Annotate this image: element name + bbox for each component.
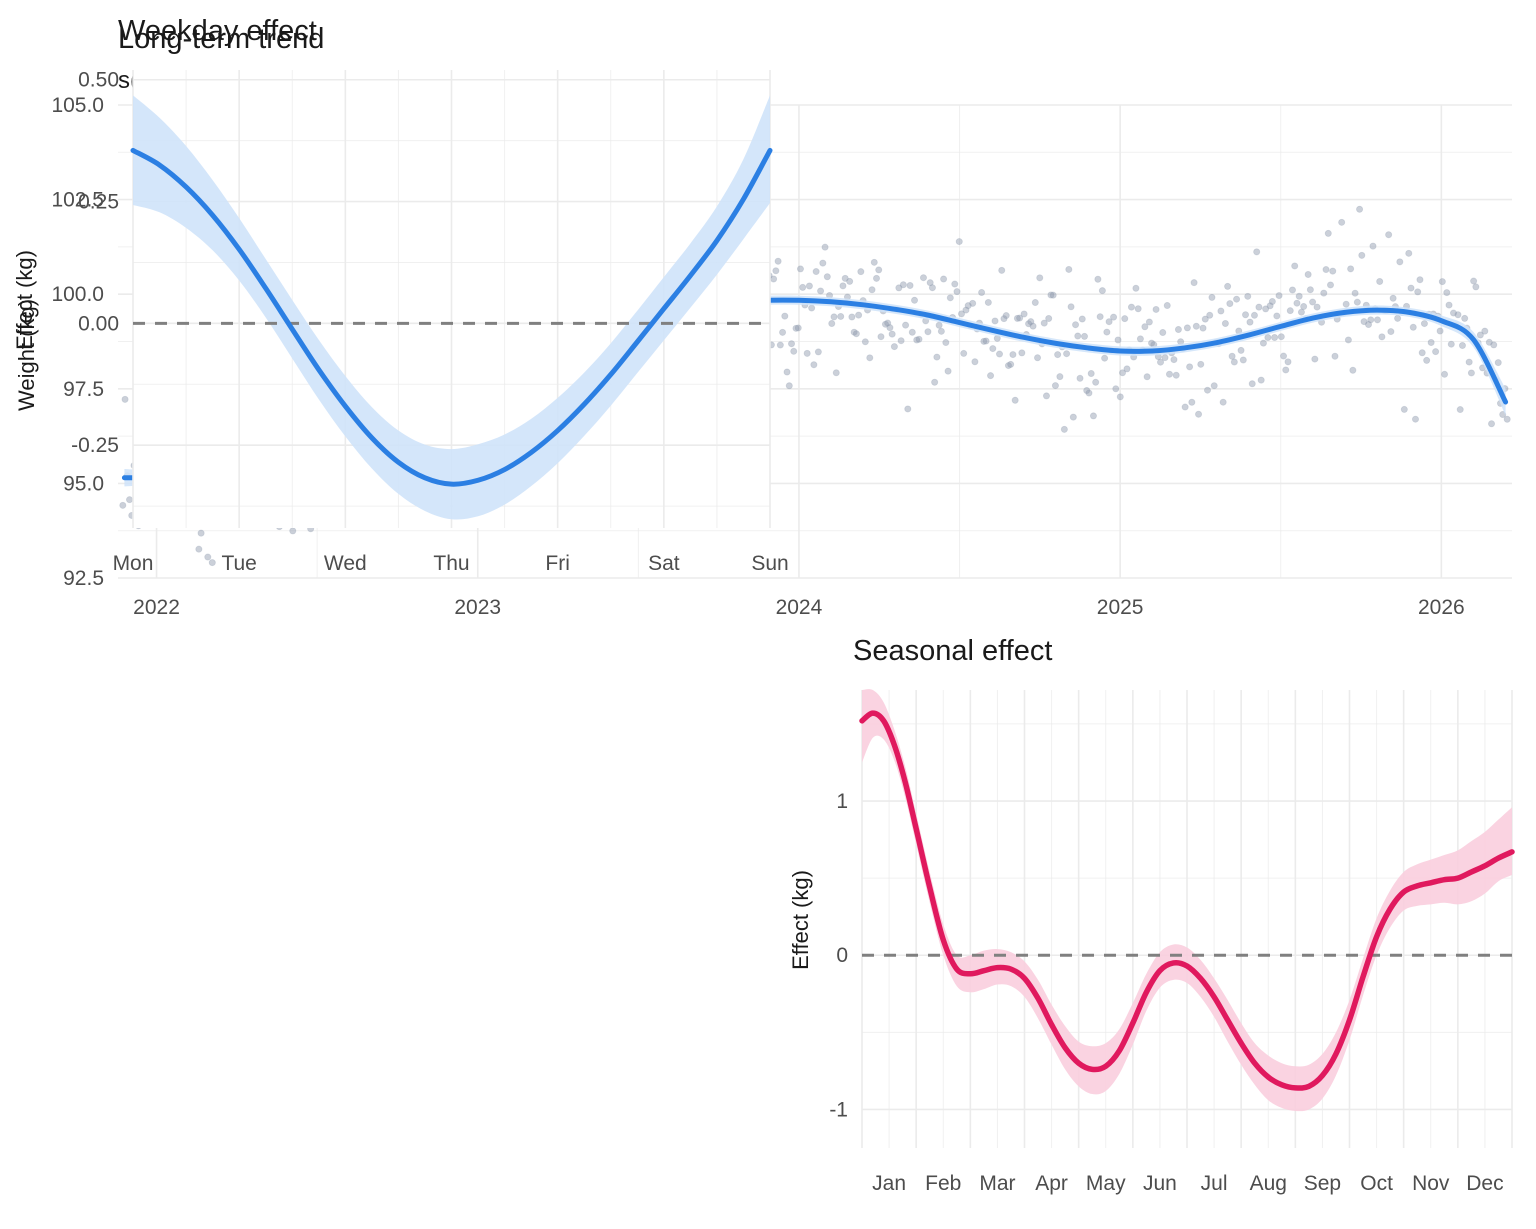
scatter-point — [985, 299, 991, 305]
scatter-point — [999, 267, 1005, 273]
scatter-point — [970, 300, 976, 306]
scatter-point — [831, 314, 837, 320]
scatter-point — [1110, 314, 1116, 320]
scatter-point — [934, 354, 940, 360]
scatter-point — [1117, 394, 1123, 400]
scatter-point — [1227, 300, 1233, 306]
scatter-point — [1305, 271, 1311, 277]
scatter-point — [1137, 336, 1143, 342]
scatter-point — [1037, 275, 1043, 281]
scatter-point — [1032, 299, 1038, 305]
scatter-point — [1504, 416, 1510, 422]
scatter-point — [1471, 278, 1477, 284]
scatter-point — [1173, 372, 1179, 378]
scatter-point — [1294, 300, 1300, 306]
scatter-point — [1269, 298, 1275, 304]
scatter-point — [1491, 342, 1497, 348]
scatter-point — [902, 322, 908, 328]
seasonal-x-tick-label: Feb — [925, 1172, 961, 1195]
scatter-point — [945, 368, 951, 374]
scatter-point — [1034, 355, 1040, 361]
weekday-title: Weekday effect — [118, 15, 317, 47]
scatter-point — [824, 274, 830, 280]
scatter-point — [936, 322, 942, 328]
scatter-point — [1439, 279, 1445, 285]
scatter-point — [1249, 381, 1255, 387]
scatter-point — [809, 305, 815, 311]
weekday-x-tick-label: Sun — [751, 552, 788, 575]
weekday-y-tick-label: 0.50 — [78, 69, 119, 92]
scatter-point — [920, 275, 926, 281]
scatter-point — [1370, 243, 1376, 249]
scatter-point — [1323, 266, 1329, 272]
scatter-point — [1204, 387, 1210, 393]
scatter-point — [1193, 323, 1199, 329]
scatter-point — [817, 288, 823, 294]
scatter-point — [878, 334, 884, 340]
scatter-point — [1314, 304, 1320, 310]
scatter-point — [947, 295, 953, 301]
scatter-point — [1081, 333, 1087, 339]
scatter-point — [1352, 290, 1358, 296]
scatter-point — [907, 282, 913, 288]
scatter-point — [1348, 266, 1354, 272]
scatter-point — [1175, 326, 1181, 332]
scatter-point — [1079, 316, 1085, 322]
scatter-point — [1325, 230, 1331, 236]
scatter-point — [822, 244, 828, 250]
scatter-point — [1287, 308, 1293, 314]
seasonal-x-tick-label: Dec — [1466, 1172, 1503, 1195]
scatter-point — [1195, 411, 1201, 417]
scatter-point — [858, 269, 864, 275]
scatter-point — [1187, 364, 1193, 370]
scatter-point — [987, 373, 993, 379]
scatter-point — [905, 406, 911, 412]
scatter-point — [1428, 339, 1434, 345]
scatter-point — [1207, 312, 1213, 318]
scatter-point — [804, 350, 810, 356]
scatter-point — [996, 351, 1002, 357]
weekday-effect-chart: Weekday effect -0.250.000.250.50MonTueWe… — [0, 0, 800, 609]
scatter-point — [990, 345, 996, 351]
scatter-point — [847, 278, 853, 284]
seasonal-effect-chart: Seasonal effect -101JanFebMarAprMayJunJu… — [780, 620, 1536, 1229]
scatter-point — [1473, 284, 1479, 290]
scatter-point — [983, 338, 989, 344]
scatter-point — [1225, 283, 1231, 289]
seasonal-x-tick-label: Mar — [979, 1172, 1015, 1195]
weekday-x-tick-label: Mon — [113, 552, 154, 575]
scatter-point — [1356, 206, 1362, 212]
scatter-point — [972, 359, 978, 365]
scatter-point — [889, 331, 895, 337]
scatter-point — [1280, 353, 1286, 359]
seasonal-title: Seasonal effect — [853, 635, 1052, 667]
scatter-point — [867, 355, 873, 361]
weekday-plot-area: -0.250.000.250.50MonTueWedThuFriSatSun — [71, 69, 789, 575]
scatter-point — [1377, 278, 1383, 284]
scatter-point — [811, 362, 817, 368]
scatter-point — [1345, 337, 1351, 343]
scatter-point — [1008, 361, 1014, 367]
weekday-x-tick-label: Thu — [433, 552, 469, 575]
seasonal-x-tick-label: Jan — [872, 1172, 906, 1195]
scatter-point — [1406, 250, 1412, 256]
scatter-point — [800, 284, 806, 290]
scatter-point — [1265, 334, 1271, 340]
scatter-point — [952, 281, 958, 287]
scatter-point — [956, 238, 962, 244]
seasonal-y-tick-label: 0 — [836, 944, 848, 967]
scatter-point — [838, 313, 844, 319]
scatter-point — [1064, 351, 1070, 357]
scatter-point — [1457, 406, 1463, 412]
scatter-point — [1099, 288, 1105, 294]
scatter-point — [1260, 340, 1266, 346]
scatter-point — [862, 339, 868, 345]
scatter-point — [1276, 292, 1282, 298]
scatter-point — [1209, 294, 1215, 300]
seasonal-x-tick-label: Oct — [1360, 1172, 1393, 1195]
scatter-point — [1220, 399, 1226, 405]
seasonal-y-tick-label: 1 — [836, 790, 848, 813]
scatter-point — [1238, 347, 1244, 353]
scatter-point — [992, 318, 998, 324]
scatter-point — [1211, 383, 1217, 389]
scatter-point — [1097, 314, 1103, 320]
scatter-point — [840, 283, 846, 289]
scatter-point — [1070, 414, 1076, 420]
scatter-point — [1128, 304, 1134, 310]
scatter-point — [1115, 337, 1121, 343]
scatter-point — [1075, 333, 1081, 339]
weekday-x-tick-label: Sat — [648, 552, 680, 575]
scatter-point — [1307, 287, 1313, 293]
seasonal-x-tick-label: Aug — [1250, 1172, 1287, 1195]
scatter-point — [1417, 277, 1423, 283]
seasonal-x-tick-label: Jul — [1201, 1172, 1228, 1195]
scatter-point — [1218, 308, 1224, 314]
scatter-point — [1468, 370, 1474, 376]
scatter-point — [1046, 315, 1052, 321]
scatter-point — [1301, 303, 1307, 309]
scatter-point — [1482, 328, 1488, 334]
scatter-point — [1339, 219, 1345, 225]
scatter-point — [1321, 290, 1327, 296]
weekday-x-tick-label: Wed — [324, 552, 367, 575]
scatter-point — [1296, 293, 1302, 299]
scatter-point — [909, 329, 915, 335]
scatter-point — [1448, 341, 1454, 347]
panel-seasonal-effect: Seasonal effect -101JanFebMarAprMayJunJu… — [780, 620, 1536, 1229]
scatter-point — [1327, 282, 1333, 288]
scatter-point — [869, 287, 875, 293]
trend-x-tick-label: 2026 — [1418, 596, 1465, 619]
scatter-point — [1374, 317, 1380, 323]
seasonal-x-tick-label: Sep — [1304, 1172, 1341, 1195]
scatter-point — [1343, 301, 1349, 307]
scatter-point — [1424, 357, 1430, 363]
scatter-point — [1144, 374, 1150, 380]
scatter-point — [1419, 350, 1425, 356]
scatter-point — [1072, 322, 1078, 328]
scatter-point — [1166, 371, 1172, 377]
scatter-point — [1292, 263, 1298, 269]
scatter-point — [1395, 315, 1401, 321]
scatter-point — [1401, 406, 1407, 412]
scatter-point — [1135, 306, 1141, 312]
scatter-point — [1312, 356, 1318, 362]
scatter-point — [1412, 416, 1418, 422]
scatter-point — [1459, 342, 1465, 348]
scatter-point — [1488, 421, 1494, 427]
scatter-point — [1102, 355, 1108, 361]
scatter-point — [1437, 328, 1443, 334]
scatter-point — [1446, 302, 1452, 308]
scatter-point — [932, 379, 938, 385]
scatter-point — [1057, 374, 1063, 380]
scatter-point — [1379, 334, 1385, 340]
scatter-point — [1354, 299, 1360, 305]
scatter-point — [1410, 324, 1416, 330]
scatter-point — [1133, 285, 1139, 291]
scatter-point — [1271, 334, 1277, 340]
scatter-point — [1153, 306, 1159, 312]
scatter-point — [1171, 356, 1177, 362]
scatter-point — [1330, 268, 1336, 274]
seasonal-y-tick-label: -1 — [829, 1098, 848, 1121]
scatter-point — [1289, 287, 1295, 293]
scatter-point — [1256, 304, 1262, 310]
scatter-point — [1191, 280, 1197, 286]
scatter-point — [1160, 329, 1166, 335]
scatter-point — [1030, 323, 1036, 329]
scatter-point — [916, 336, 922, 342]
scatter-point — [1421, 320, 1427, 326]
weekday-y-tick-label: -0.25 — [71, 434, 119, 457]
scatter-point — [1021, 311, 1027, 317]
scatter-point — [871, 259, 877, 265]
scatter-point — [911, 297, 917, 303]
scatter-point — [1310, 299, 1316, 305]
scatter-point — [1093, 379, 1099, 385]
scatter-point — [1388, 328, 1394, 334]
scatter-point — [1242, 312, 1248, 318]
weekday-y-axis-title: Effect (kg) — [12, 250, 37, 350]
scatter-point — [900, 282, 906, 288]
scatter-point — [1189, 399, 1195, 405]
scatter-point — [1164, 302, 1170, 308]
scatter-point — [1090, 413, 1096, 419]
scatter-point — [1124, 366, 1130, 372]
scatter-point — [1003, 312, 1009, 318]
scatter-point — [833, 370, 839, 376]
scatter-point — [849, 314, 855, 320]
scatter-point — [887, 325, 893, 331]
scatter-point — [820, 260, 826, 266]
scatter-point — [1278, 334, 1284, 340]
scatter-point — [891, 343, 897, 349]
scatter-point — [1415, 289, 1421, 295]
seasonal-y-axis-title: Effect (kg) — [788, 870, 813, 970]
scatter-point — [1285, 359, 1291, 365]
seasonal-x-tick-label: Apr — [1035, 1172, 1068, 1195]
scatter-point — [856, 312, 862, 318]
scatter-point — [1390, 295, 1396, 301]
scatter-point — [1088, 370, 1094, 376]
scatter-point — [1251, 312, 1257, 318]
panel-weekday-effect: Weekday effect -0.250.000.250.50MonTueWe… — [0, 0, 800, 609]
scatter-point — [873, 275, 879, 281]
scatter-point — [1198, 361, 1204, 367]
scatter-point — [1397, 259, 1403, 265]
scatter-point — [1240, 357, 1246, 363]
scatter-point — [1245, 293, 1251, 299]
scatter-point — [1283, 367, 1289, 373]
scatter-point — [1104, 329, 1110, 335]
scatter-point — [853, 331, 859, 337]
weekday-x-tick-label: Tue — [221, 552, 256, 575]
scatter-point — [1254, 249, 1260, 255]
figure-root: Long-term trend s(t) only — weekday and … — [0, 0, 1536, 1229]
scatter-point — [1113, 386, 1119, 392]
seasonal-x-tick-label: Jun — [1143, 1172, 1177, 1195]
scatter-point — [1332, 353, 1338, 359]
scatter-point — [1182, 404, 1188, 410]
seasonal-x-tick-label: May — [1086, 1172, 1126, 1195]
weekday-y-tick-label: 0.00 — [78, 312, 119, 335]
scatter-point — [1086, 390, 1092, 396]
scatter-point — [925, 329, 931, 335]
scatter-point — [1462, 315, 1468, 321]
scatter-point — [1068, 304, 1074, 310]
scatter-point — [1368, 317, 1374, 323]
scatter-point — [1258, 377, 1264, 383]
scatter-point — [1066, 266, 1072, 272]
scatter-point — [1061, 426, 1067, 432]
scatter-point — [1359, 252, 1365, 258]
scatter-point — [806, 283, 812, 289]
scatter-point — [1386, 232, 1392, 238]
scatter-point — [1408, 285, 1414, 291]
seasonal-plot-area: -101JanFebMarAprMayJunJulAugSepOctNovDec — [829, 689, 1512, 1195]
trend-x-tick-label: 2025 — [1097, 596, 1144, 619]
scatter-point — [1231, 359, 1237, 365]
scatter-point — [1019, 350, 1025, 356]
scatter-point — [815, 349, 821, 355]
scatter-point — [1077, 375, 1083, 381]
scatter-point — [1122, 316, 1128, 322]
scatter-point — [1433, 349, 1439, 355]
weekday-x-tick-label: Fri — [545, 552, 570, 575]
scatter-point — [829, 320, 835, 326]
scatter-point — [1162, 355, 1168, 361]
scatter-point — [1052, 383, 1058, 389]
scatter-point — [1455, 312, 1461, 318]
scatter-point — [1441, 371, 1447, 377]
scatter-point — [1012, 397, 1018, 403]
scatter-point — [1350, 367, 1356, 373]
scatter-point — [1010, 351, 1016, 357]
scatter-point — [1495, 360, 1501, 366]
scatter-point — [943, 339, 949, 345]
scatter-point — [1222, 320, 1228, 326]
scatter-point — [1466, 359, 1472, 365]
scatter-point — [1146, 319, 1152, 325]
scatter-point — [1229, 353, 1235, 359]
scatter-point — [876, 267, 882, 273]
scatter-point — [1233, 296, 1239, 302]
scatter-point — [1043, 393, 1049, 399]
scatter-point — [1274, 313, 1280, 319]
scatter-point — [898, 338, 904, 344]
scatter-point — [1095, 276, 1101, 282]
scatter-point — [941, 276, 947, 282]
scatter-point — [1444, 290, 1450, 296]
scatter-point — [961, 350, 967, 356]
scatter-point — [954, 289, 960, 295]
weekday-y-tick-label: 0.25 — [78, 191, 119, 214]
scatter-point — [929, 285, 935, 291]
scatter-point — [1050, 292, 1056, 298]
scatter-point — [1247, 319, 1253, 325]
scatter-point — [813, 268, 819, 274]
scatter-point — [1055, 351, 1061, 357]
scatter-point — [1200, 325, 1206, 331]
seasonal-x-tick-label: Nov — [1412, 1172, 1450, 1195]
scatter-point — [979, 289, 985, 295]
scatter-point — [938, 328, 944, 334]
scatter-point — [1184, 325, 1190, 331]
